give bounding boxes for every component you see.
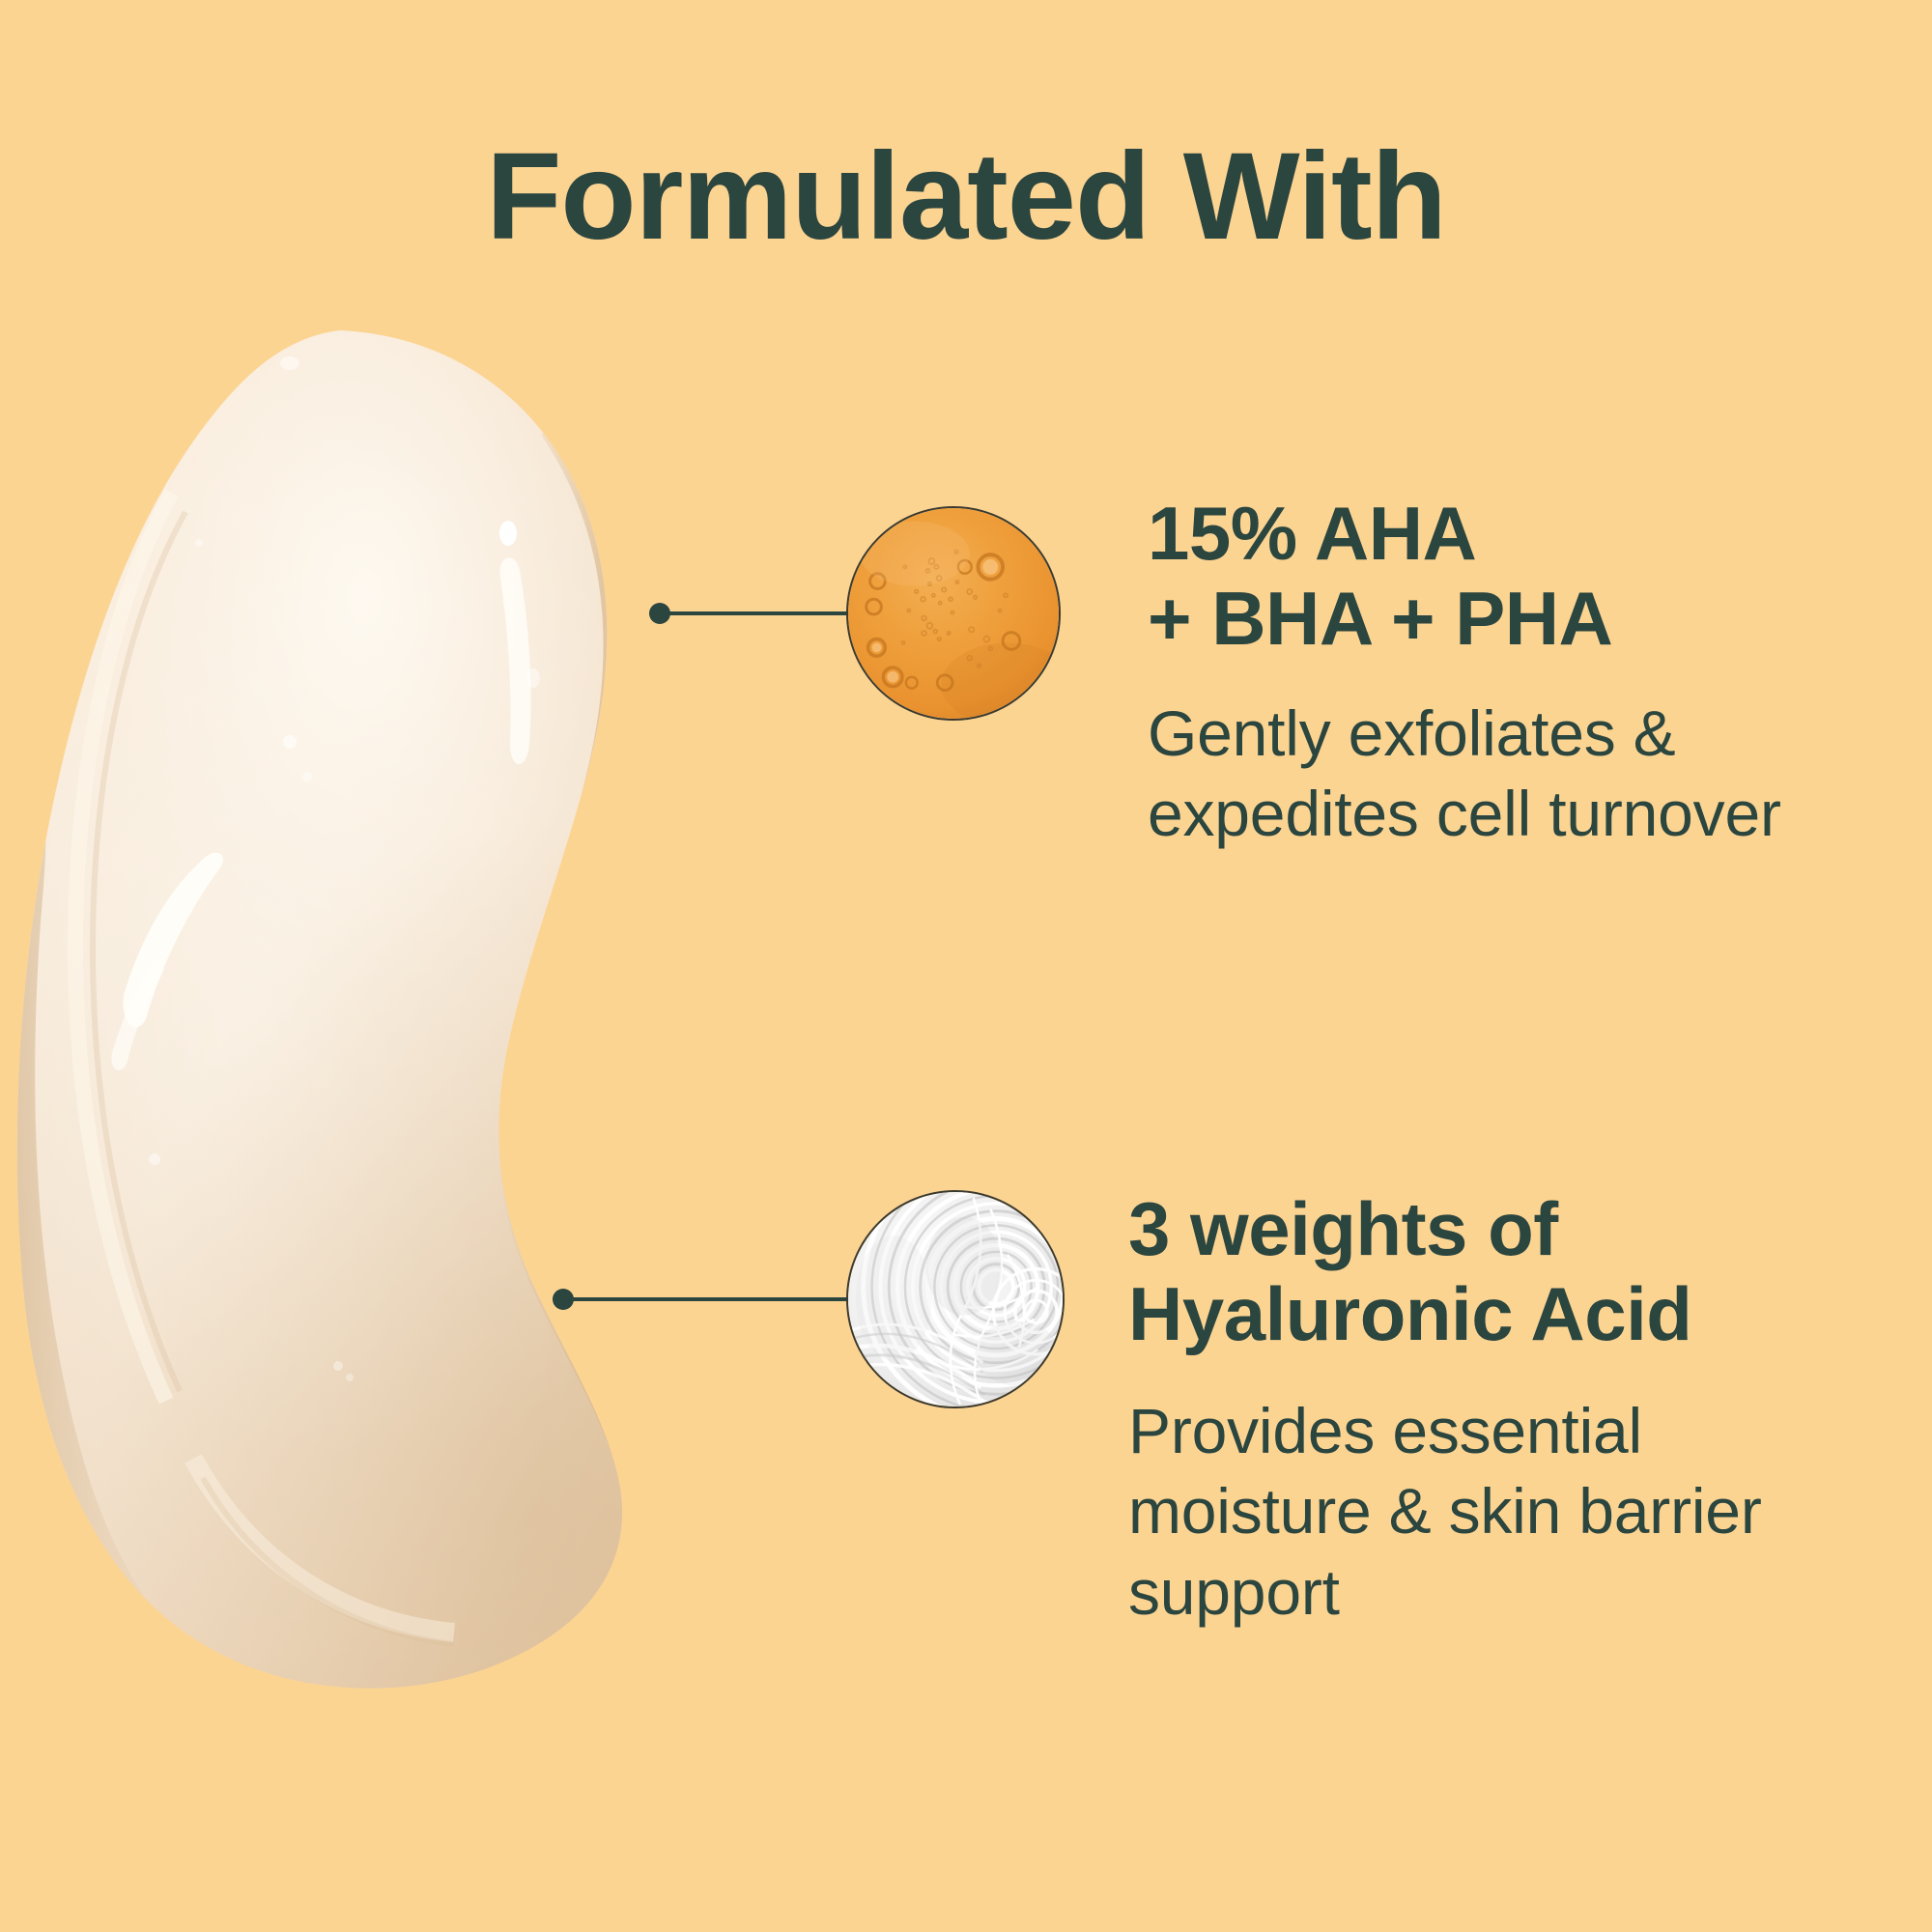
feature-heading-hyaluronic-acid-line1: 3 weights of bbox=[1128, 1186, 1891, 1271]
serum-swatch-graphic bbox=[0, 319, 869, 1710]
water-ripple-graphic bbox=[848, 1192, 1063, 1406]
feature-description-aha: Gently exfoliates & expedites cell turno… bbox=[1148, 694, 1911, 854]
feature-heading-aha-line2: + BHA + PHA bbox=[1148, 576, 1911, 661]
feature-description-hyaluronic-acid: Provides essential moisture & skin barri… bbox=[1128, 1391, 1891, 1632]
connector-line-hyaluronic-acid bbox=[553, 1289, 860, 1310]
page-title: Formulated With bbox=[0, 135, 1932, 259]
callout-dot-hyaluronic-acid bbox=[553, 1289, 574, 1310]
feature-block-hyaluronic-acid: 3 weights of Hyaluronic Acid Provides es… bbox=[1128, 1186, 1891, 1633]
feature-heading-hyaluronic-acid: 3 weights of Hyaluronic Acid bbox=[1128, 1186, 1891, 1356]
serum-cream-swatch bbox=[0, 319, 869, 1710]
callout-dot-aha bbox=[649, 603, 670, 624]
orange-gel-graphic bbox=[848, 508, 1059, 719]
connector-line-aha bbox=[649, 603, 857, 624]
feature-heading-aha-line1: 15% AHA bbox=[1148, 491, 1911, 576]
feature-heading-hyaluronic-acid-line2: Hyaluronic Acid bbox=[1128, 1271, 1891, 1356]
infographic-canvas: Formulated With bbox=[0, 0, 1932, 1932]
feature-block-aha: 15% AHA + BHA + PHA Gently exfoliates & … bbox=[1148, 491, 1911, 855]
water-ripple-texture-circle-icon bbox=[846, 1190, 1065, 1408]
feature-heading-aha: 15% AHA + BHA + PHA bbox=[1148, 491, 1911, 661]
orange-gel-texture-circle-icon bbox=[846, 506, 1061, 721]
connector-stroke-aha bbox=[669, 611, 857, 615]
connector-stroke-hyaluronic-acid bbox=[573, 1297, 860, 1301]
